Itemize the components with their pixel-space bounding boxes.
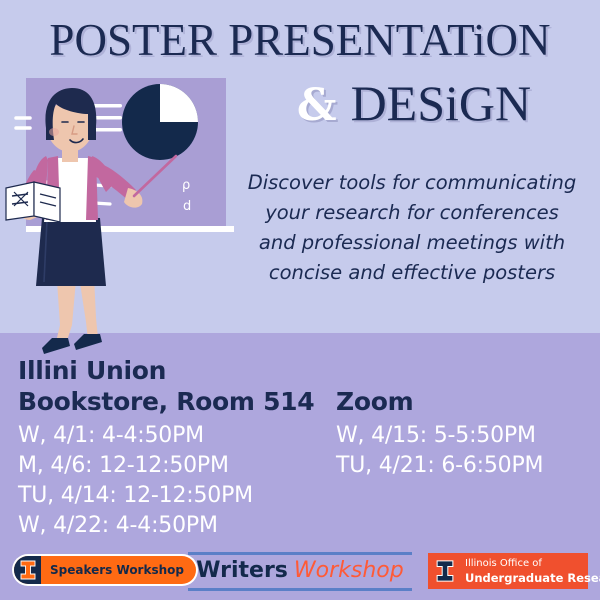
session-item: TU, 4/14: 12-12:50PM: [18, 481, 338, 511]
page-title-design: DESiGN: [351, 75, 532, 131]
writers-workshop-logo[interactable]: WritersWorkshop: [188, 552, 412, 591]
writers-workshop-text: WritersWorkshop: [188, 558, 412, 584]
zoom-column: Zoom W, 4/15: 5-5:50PM TU, 4/21: 6-6:50P…: [336, 386, 596, 481]
speakers-workshop-label: Speakers Workshop: [41, 563, 196, 577]
description-line: your research for conferences: [228, 198, 596, 228]
session-item: M, 4/6: 12-12:50PM: [18, 451, 338, 481]
venue-session-list: W, 4/1: 4-4:50PM M, 4/6: 12-12:50PM TU, …: [18, 421, 338, 541]
presenter-illustration: ρ d: [0, 70, 250, 370]
description-line: and professional meetings with: [228, 228, 596, 258]
speakers-workshop-logo[interactable]: Speakers Workshop: [12, 554, 198, 586]
shoe-left: [42, 338, 70, 354]
session-item: W, 4/15: 5-5:50PM: [336, 421, 596, 451]
description: Discover tools for communicating your re…: [228, 168, 596, 288]
illinois-block-i-icon: [432, 553, 458, 589]
venue-title-line1: Illini Union: [18, 355, 338, 386]
workshop-word: Workshop: [294, 558, 404, 583]
illinois-block-i-icon: [14, 556, 41, 584]
writers-word: Writers: [196, 558, 288, 583]
zoom-session-list: W, 4/15: 5-5:50PM TU, 4/21: 6-6:50PM: [336, 421, 596, 481]
description-line: concise and effective posters: [228, 258, 596, 288]
page-title-line2: &DESiGN: [228, 74, 600, 135]
venue-column: Illini Union Bookstore, Room 514 W, 4/1:…: [18, 355, 338, 541]
undergraduate-research-text: Illinois Office of Undergraduate Researc…: [458, 558, 600, 584]
open-book: [6, 182, 60, 222]
zoom-title: Zoom: [336, 386, 596, 417]
our-line1: Illinois Office of: [465, 558, 600, 570]
session-item: TU, 4/21: 6-6:50PM: [336, 451, 596, 481]
pie-chart: [122, 84, 198, 160]
board-line: [92, 128, 122, 132]
session-item: W, 4/1: 4-4:50PM: [18, 421, 338, 451]
board-glyph-rho: ρ: [182, 178, 190, 193]
speakers-workshop-pill: Speakers Workshop: [14, 556, 196, 584]
description-line: Discover tools for communicating: [228, 168, 596, 198]
ampersand-glyph: &: [297, 80, 337, 131]
board-glyph-d: d: [183, 199, 191, 214]
shoe-right: [74, 334, 102, 350]
venue-title-line2: Bookstore, Room 514: [18, 386, 338, 417]
our-line2: Undergraduate Research: [465, 572, 600, 584]
session-item: W, 4/22: 4-4:50PM: [18, 511, 338, 541]
undergraduate-research-logo[interactable]: Illinois Office of Undergraduate Researc…: [428, 553, 588, 589]
footer-logo-bar: Speakers Workshop WritersWorkshop Illino…: [0, 546, 600, 600]
page-title-line1: POSTER PRESENTATiON: [0, 14, 600, 66]
poster: ρ d: [0, 0, 600, 600]
